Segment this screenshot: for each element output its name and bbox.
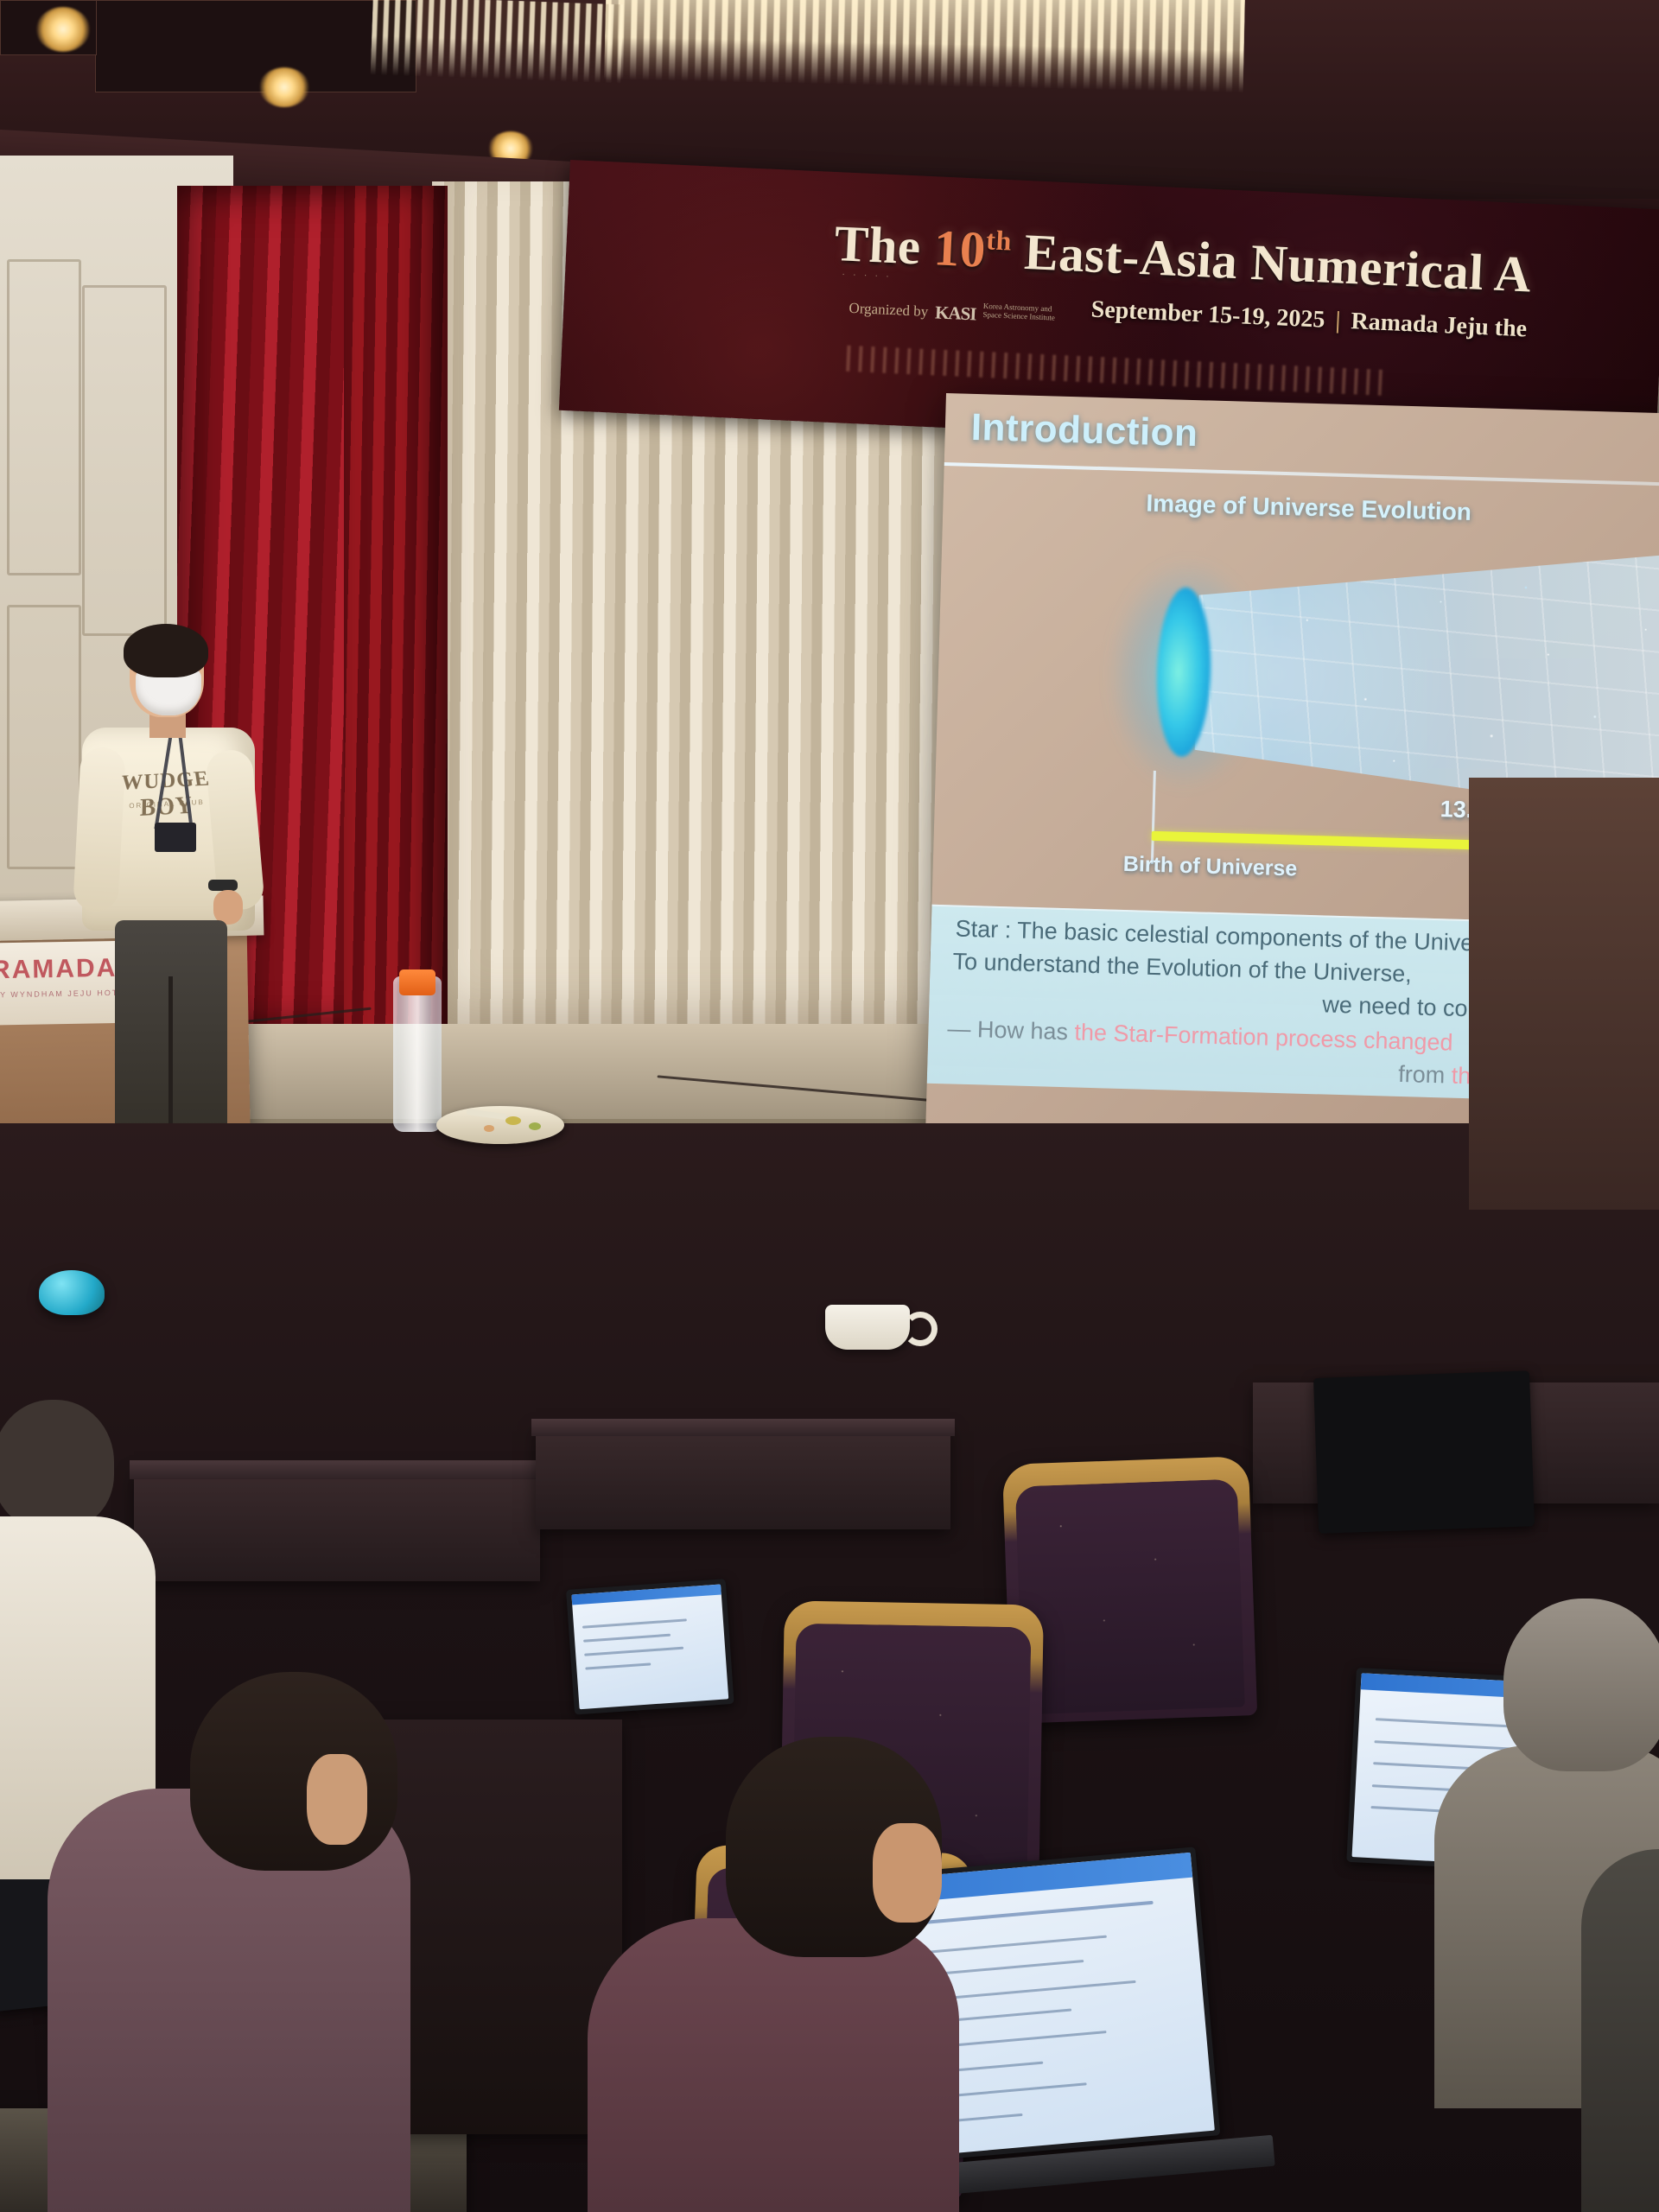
speaker-hair <box>124 624 208 677</box>
ceiling-panel <box>95 0 416 92</box>
highlight-2-lead: from <box>1398 1061 1452 1089</box>
name-badge <box>155 823 196 852</box>
slide-highlight-line-1: — How has the Star-Formation process cha… <box>947 1015 1453 1056</box>
chandelier <box>370 0 623 84</box>
conference-room-photo: · · · · · The 10th East-Asia Numerical A… <box>0 0 1659 2212</box>
speaker-hand <box>213 890 243 925</box>
speaker-shirt-text: WUDGE BOY <box>97 766 238 825</box>
table <box>536 1426 950 1529</box>
trouser-seam <box>168 976 173 1136</box>
person-shirt <box>588 1918 959 2212</box>
food-crumb <box>505 1116 521 1125</box>
chandelier <box>604 0 1245 93</box>
cup-handle <box>903 1312 938 1346</box>
slide-title: Introduction <box>970 406 1198 455</box>
bottle-cap[interactable] <box>399 969 435 995</box>
highlight-1-emphasis: the Star-Formation process changed <box>1074 1019 1453 1055</box>
water-bottle[interactable] <box>393 976 442 1132</box>
table <box>134 1469 540 1581</box>
wall-molding <box>82 285 167 636</box>
wall-molding <box>7 605 81 869</box>
person-face <box>307 1754 367 1845</box>
table-edge <box>531 1419 955 1436</box>
organized-by-label: Organized by <box>849 300 929 320</box>
screen-text-line <box>582 1619 687 1629</box>
ceiling-light-icon <box>36 7 90 52</box>
screen-text-line <box>586 1662 652 1669</box>
laptop-lid <box>1313 1370 1535 1534</box>
kasi-logo: KASI <box>935 302 976 325</box>
person-shirt <box>1581 1849 1659 2212</box>
table-edge <box>130 1460 544 1479</box>
slide-body-line-2: To understand the Evolution of the Unive… <box>952 948 1412 988</box>
red-curtain <box>344 186 448 1067</box>
person-head <box>190 1672 397 1871</box>
person-hood <box>1503 1599 1659 1771</box>
timeline-left-label: Birth of Universe <box>1122 852 1297 882</box>
chair-upholstery <box>1015 1479 1245 1715</box>
ceiling-light-icon <box>259 67 309 107</box>
banner-separator: | <box>1335 307 1342 334</box>
person-head <box>0 1400 114 1529</box>
screen-text-line <box>585 1647 683 1656</box>
screen-text-line <box>583 1634 670 1643</box>
banner-title-ordinal-suffix: th <box>986 224 1013 256</box>
computer-mouse[interactable] <box>39 1270 105 1315</box>
kasi-name: Korea Astronomy andSpace Science Institu… <box>982 302 1055 322</box>
food-crumb <box>529 1122 541 1130</box>
person-face <box>873 1823 942 1923</box>
app-titlebar <box>571 1584 721 1605</box>
plate-with-food <box>436 1106 564 1144</box>
wristwatch-icon <box>208 880 238 891</box>
rear-wall <box>1469 778 1659 1210</box>
highlight-1-lead: — How has <box>947 1015 1075 1045</box>
wall-molding <box>7 259 81 575</box>
laptop-screen[interactable] <box>571 1584 728 1709</box>
coffee-cup[interactable] <box>825 1305 910 1350</box>
speaker-presenter: WUDGE BOY ORIGINAL CLUB <box>82 631 298 1158</box>
banner-title-ordinal: 10 <box>932 219 987 278</box>
laptop-lid <box>566 1579 734 1715</box>
food-crumb <box>484 1125 494 1132</box>
banner-title-prefix: The <box>833 214 935 276</box>
